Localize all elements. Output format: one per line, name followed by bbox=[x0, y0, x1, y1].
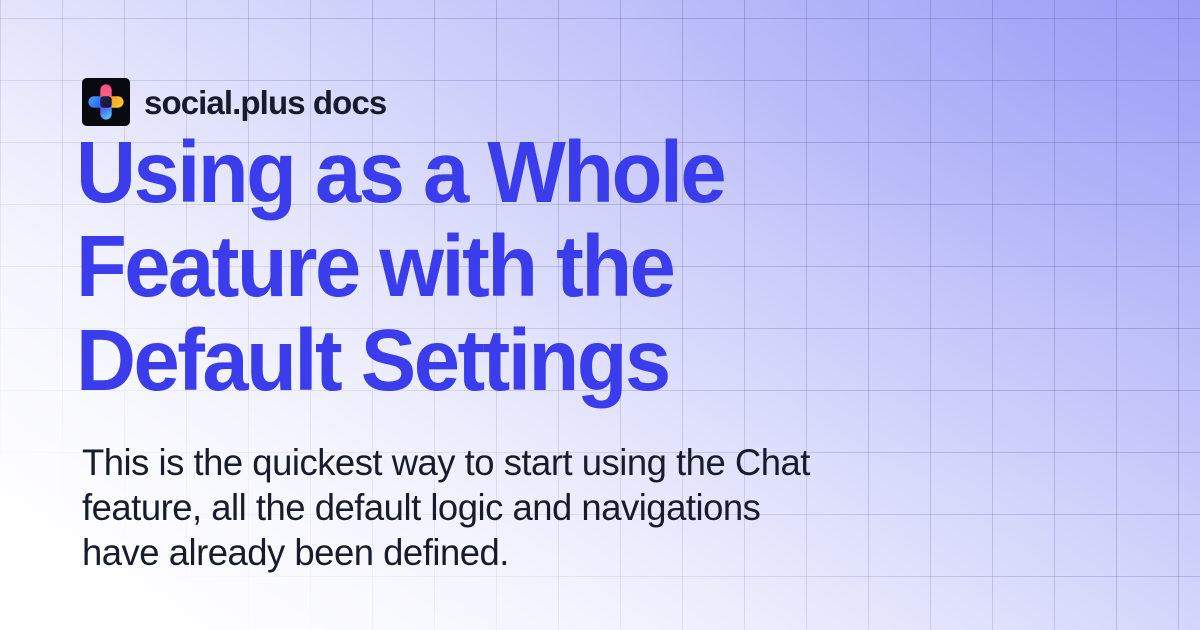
page-description: This is the quickest way to start using … bbox=[82, 440, 831, 575]
brand-name-label: social.plus docs bbox=[144, 86, 386, 119]
page-title: Using as a Whole Feature with the Defaul… bbox=[76, 126, 840, 408]
social-plus-logo-icon bbox=[82, 78, 130, 126]
card-content: social.plus docs Using as a Whole Featur… bbox=[82, 0, 1140, 630]
og-preview-card: social.plus docs Using as a Whole Featur… bbox=[0, 0, 1200, 630]
brand-lockup: social.plus docs bbox=[82, 78, 386, 126]
